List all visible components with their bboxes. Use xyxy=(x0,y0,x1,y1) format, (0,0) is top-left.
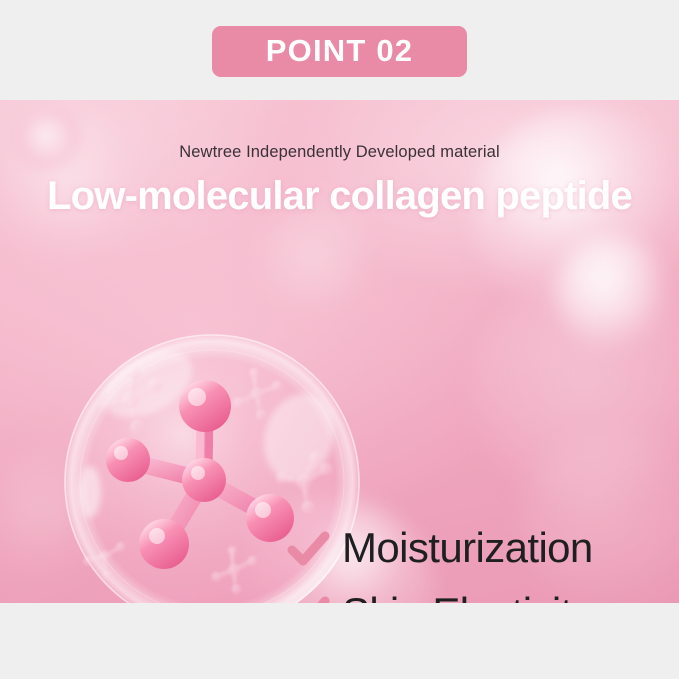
hero-text-block: Newtree Independently Developed material… xyxy=(0,100,679,217)
background-bubble-icon xyxy=(250,200,380,320)
point-badge: POINT 02 xyxy=(212,26,467,77)
list-item: Moisturization xyxy=(286,515,593,580)
hero-eyebrow: Newtree Independently Developed material xyxy=(0,144,679,161)
point-badge-label: POINT 02 xyxy=(266,33,413,69)
background-bubble-icon xyxy=(555,235,670,350)
hero-headline: Low-molecular collagen peptide xyxy=(0,175,679,217)
bottom-bar xyxy=(0,603,679,679)
hero-banner: Newtree Independently Developed material… xyxy=(0,100,679,603)
check-icon xyxy=(286,592,330,604)
list-item-label: Moisturization xyxy=(342,527,593,569)
list-item: Skin Elasticity xyxy=(286,580,593,603)
top-bar: POINT 02 xyxy=(0,0,679,100)
benefits-list: Moisturization Skin Elasticity xyxy=(286,515,593,603)
check-icon xyxy=(286,527,330,571)
background-bubble-icon xyxy=(470,275,679,510)
list-item-label: Skin Elasticity xyxy=(342,592,592,604)
